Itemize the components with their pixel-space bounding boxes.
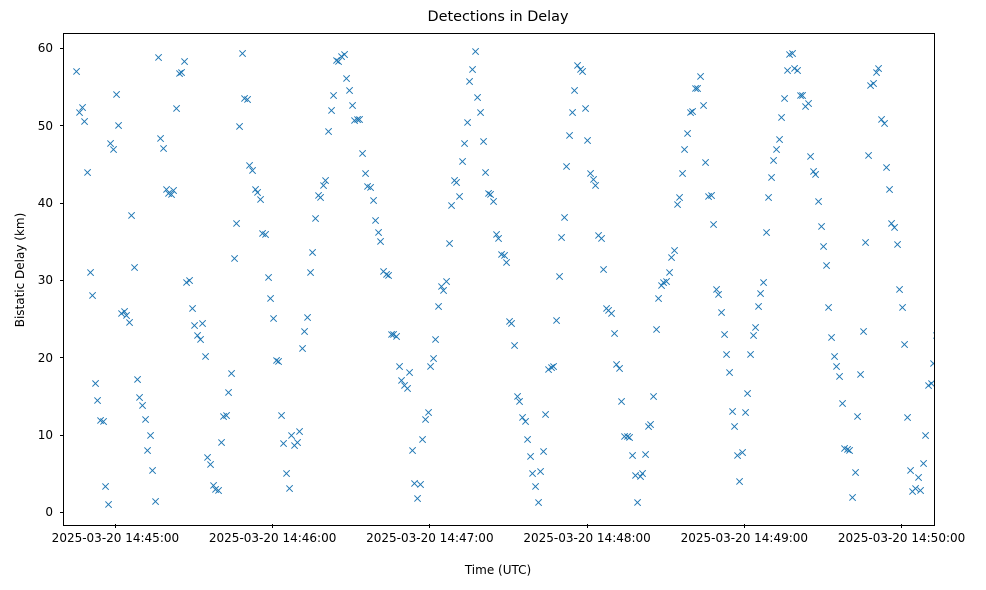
scatter-marker — [476, 108, 485, 117]
scatter-marker — [259, 229, 268, 238]
scatter-marker — [927, 379, 934, 388]
scatter-marker — [854, 412, 863, 421]
scatter-marker — [154, 53, 163, 62]
scatter-marker — [282, 469, 291, 478]
scatter-marker — [652, 325, 661, 334]
scatter-marker — [497, 250, 506, 259]
scatter-marker — [874, 64, 883, 73]
scatter-marker — [371, 216, 380, 225]
scatter-marker — [232, 219, 241, 228]
scatter-marker — [523, 435, 532, 444]
scatter-marker — [667, 253, 676, 262]
scatter-marker — [741, 408, 750, 417]
scatter-marker — [442, 277, 451, 286]
scatter-marker — [298, 344, 307, 353]
scatter-marker — [825, 303, 834, 312]
scatter-marker — [400, 381, 409, 390]
scatter-marker — [696, 72, 705, 81]
scatter-marker — [429, 354, 438, 363]
scatter-marker — [421, 415, 430, 424]
scatter-marker — [678, 169, 687, 178]
scatter-marker — [306, 268, 315, 277]
scatter-marker — [709, 220, 718, 229]
scatter-marker — [479, 137, 488, 146]
scatter-marker — [303, 313, 312, 322]
scatter-marker — [665, 268, 674, 277]
scatter-marker — [550, 362, 559, 371]
scatter-marker — [345, 86, 354, 95]
scatter-marker — [211, 485, 220, 494]
scatter-marker — [332, 56, 341, 65]
scatter-marker — [222, 411, 231, 420]
scatter-marker — [356, 115, 365, 124]
scatter-marker — [620, 432, 629, 441]
scatter-marker — [151, 497, 160, 506]
scatter-marker — [295, 427, 304, 436]
scatter-marker — [515, 397, 524, 406]
y-tick-mark — [60, 512, 64, 513]
scatter-marker — [791, 64, 800, 73]
scatter-marker — [164, 189, 173, 198]
scatter-marker — [408, 446, 417, 455]
y-tick-label: 60 — [9, 42, 53, 54]
scatter-marker — [552, 316, 561, 325]
scatter-marker — [437, 282, 446, 291]
scatter-marker — [301, 327, 310, 336]
scatter-marker — [885, 185, 894, 194]
x-tick-mark — [587, 524, 588, 528]
scatter-marker — [322, 176, 331, 185]
scatter-marker — [623, 432, 632, 441]
scatter-marker — [314, 191, 323, 200]
plot-area — [63, 33, 935, 526]
scatter-marker — [335, 57, 344, 66]
scatter-marker — [555, 272, 564, 281]
y-tick-label: 10 — [9, 429, 53, 441]
x-tick-mark — [272, 524, 273, 528]
scatter-marker — [277, 411, 286, 420]
scatter-marker — [835, 372, 844, 381]
scatter-marker — [872, 68, 881, 77]
scatter-marker — [754, 302, 763, 311]
scatter-marker — [932, 331, 934, 340]
scatter-marker — [450, 176, 459, 185]
scatter-marker — [526, 452, 535, 461]
scatter-marker — [340, 50, 349, 59]
scatter-marker — [880, 119, 889, 128]
scatter-marker — [83, 168, 92, 177]
scatter-marker — [570, 86, 579, 95]
scatter-marker — [909, 487, 918, 496]
scatter-marker — [384, 271, 393, 280]
scatter-marker — [175, 69, 184, 78]
scatter-marker — [856, 370, 865, 379]
scatter-marker — [544, 365, 553, 374]
scatter-marker — [819, 242, 828, 251]
scatter-marker — [722, 350, 731, 359]
scatter-marker — [293, 438, 302, 447]
scatter-marker — [350, 116, 359, 125]
scatter-marker — [565, 131, 574, 140]
scatter-marker — [264, 273, 273, 282]
scatter-marker — [91, 379, 100, 388]
scatter-marker — [911, 484, 920, 493]
scatter-marker — [639, 469, 648, 478]
scatter-marker — [641, 450, 650, 459]
scatter-marker — [793, 66, 802, 75]
scatter-marker — [660, 278, 669, 287]
scatter-marker — [455, 192, 464, 201]
scatter-marker — [861, 238, 870, 247]
scatter-marker — [728, 407, 737, 416]
scatter-marker — [801, 102, 810, 111]
scatter-marker — [206, 460, 215, 469]
scatter-marker — [489, 197, 498, 206]
scatter-marker — [704, 192, 713, 201]
y-tick-mark — [60, 357, 64, 358]
scatter-marker — [172, 104, 181, 113]
scatter-marker — [730, 422, 739, 431]
scatter-marker — [833, 362, 842, 371]
scatter-marker — [398, 376, 407, 385]
scatter-marker — [691, 84, 700, 93]
scatter-marker — [812, 170, 821, 179]
scatter-marker — [560, 213, 569, 222]
scatter-marker — [898, 303, 907, 312]
scatter-marker — [780, 94, 789, 103]
scatter-marker — [597, 234, 606, 243]
scatter-marker — [578, 67, 587, 76]
scatter-marker — [673, 200, 682, 209]
scatter-marker — [382, 270, 391, 279]
scatter-marker — [827, 333, 836, 342]
scatter-marker — [500, 251, 509, 260]
scatter-marker — [272, 356, 281, 365]
scatter-marker — [529, 469, 538, 478]
scatter-marker — [521, 417, 530, 426]
scatter-marker — [353, 115, 362, 124]
scatter-marker — [191, 321, 200, 330]
scatter-marker — [573, 61, 582, 70]
scatter-marker — [219, 412, 228, 421]
scatter-marker — [193, 331, 202, 340]
scatter-marker — [930, 359, 935, 368]
scatter-marker — [170, 186, 179, 195]
scatter-marker — [403, 384, 412, 393]
scatter-marker — [274, 357, 283, 366]
scatter-marker — [809, 167, 818, 176]
x-tick-label: 2025-03-20 14:49:00 — [681, 532, 808, 544]
scatter-marker — [471, 47, 480, 56]
scatter-marker — [115, 121, 124, 130]
x-tick-label: 2025-03-20 14:46:00 — [209, 532, 336, 544]
scatter-marker — [439, 286, 448, 295]
scatter-marker — [510, 341, 519, 350]
scatter-marker — [610, 329, 619, 338]
scatter-marker — [851, 468, 860, 477]
scatter-marker — [109, 145, 118, 154]
scatter-marker — [251, 185, 260, 194]
scatter-marker — [746, 350, 755, 359]
x-tick-label: 2025-03-20 14:50:00 — [838, 532, 965, 544]
scatter-marker — [715, 290, 724, 299]
scatter-marker — [107, 139, 116, 148]
scatter-marker — [75, 108, 84, 117]
scatter-marker — [285, 484, 294, 493]
y-tick-mark — [60, 280, 64, 281]
scatter-marker — [243, 95, 252, 104]
scatter-marker — [204, 453, 213, 462]
scatter-marker — [877, 115, 886, 124]
scatter-marker — [495, 234, 504, 243]
scatter-marker — [589, 175, 598, 184]
scatter-marker — [681, 145, 690, 154]
scatter-marker — [104, 500, 113, 509]
scatter-marker — [466, 77, 475, 86]
scatter-marker — [518, 413, 527, 422]
scatter-marker — [311, 214, 320, 223]
scatter-marker — [605, 306, 614, 315]
scatter-marker — [484, 189, 493, 198]
scatter-marker — [615, 364, 624, 373]
scatter-marker — [183, 278, 192, 287]
scatter-marker — [738, 448, 747, 457]
scatter-marker — [209, 481, 218, 490]
scatter-marker — [751, 323, 760, 332]
chart-title: Detections in Delay — [63, 8, 933, 26]
scatter-marker — [445, 239, 454, 248]
scatter-marker — [240, 94, 249, 103]
scatter-marker — [290, 441, 299, 450]
scatter-marker — [434, 302, 443, 311]
scatter-marker — [214, 486, 223, 495]
scatter-marker — [840, 444, 849, 453]
scatter-marker — [99, 417, 108, 426]
scatter-marker — [536, 467, 545, 476]
scatter-marker — [101, 482, 110, 491]
scatter-marker — [201, 352, 210, 361]
scatter-marker — [830, 352, 839, 361]
scatter-marker — [762, 228, 771, 237]
x-tick-mark — [429, 524, 430, 528]
scatter-marker — [120, 307, 129, 316]
scatter-marker — [149, 466, 158, 475]
scatter-marker — [196, 335, 205, 344]
scatter-marker — [631, 471, 640, 480]
scatter-marker — [88, 291, 97, 300]
scatter-marker — [135, 393, 144, 402]
y-tick-mark — [60, 203, 64, 204]
scatter-marker — [122, 311, 131, 320]
scatter-marker — [447, 201, 456, 210]
scatter-marker — [133, 375, 142, 384]
scatter-points-layer — [64, 34, 934, 525]
scatter-marker — [508, 319, 517, 328]
x-tick-label: 2025-03-20 14:47:00 — [366, 532, 493, 544]
scatter-marker — [591, 181, 600, 190]
scatter-marker — [712, 285, 721, 294]
scatter-marker — [568, 108, 577, 117]
scatter-marker — [764, 193, 773, 202]
scatter-marker — [159, 144, 168, 153]
scatter-marker — [707, 191, 716, 200]
scatter-marker — [125, 318, 134, 327]
scatter-marker — [432, 335, 441, 344]
scatter-marker — [736, 477, 745, 486]
scatter-marker — [563, 162, 572, 171]
scatter-marker — [594, 231, 603, 240]
scatter-marker — [117, 309, 126, 318]
scatter-marker — [460, 139, 469, 148]
scatter-marker — [783, 66, 792, 75]
scatter-marker — [804, 99, 813, 108]
scatter-marker — [267, 294, 276, 303]
scatter-marker — [416, 480, 425, 489]
scatter-marker — [167, 190, 176, 199]
scatter-marker — [867, 81, 876, 90]
scatter-marker — [539, 447, 548, 456]
scatter-marker — [327, 106, 336, 115]
scatter-marker — [156, 134, 165, 143]
scatter-marker — [775, 135, 784, 144]
scatter-marker — [675, 193, 684, 202]
scatter-marker — [699, 101, 708, 110]
scatter-marker — [725, 368, 734, 377]
scatter-marker — [848, 493, 857, 502]
scatter-marker — [542, 410, 551, 419]
scatter-marker — [557, 233, 566, 242]
scatter-marker — [86, 268, 95, 277]
scatter-marker — [162, 185, 171, 194]
scatter-marker — [806, 152, 815, 161]
scatter-marker — [180, 57, 189, 66]
scatter-marker — [308, 248, 317, 257]
scatter-marker — [369, 196, 378, 205]
scatter-marker — [778, 113, 787, 122]
scatter-marker — [73, 67, 82, 76]
scatter-marker — [798, 91, 807, 100]
scatter-marker — [733, 451, 742, 460]
scatter-marker — [901, 340, 910, 349]
scatter-marker — [128, 211, 137, 220]
y-tick-mark — [60, 48, 64, 49]
scatter-marker — [138, 401, 147, 410]
scatter-marker — [505, 317, 514, 326]
scatter-marker — [895, 285, 904, 294]
scatter-marker — [767, 173, 776, 182]
scatter-marker — [474, 93, 483, 102]
scatter-marker — [361, 169, 370, 178]
scatter-marker — [688, 107, 697, 116]
scatter-marker — [869, 79, 878, 88]
scatter-marker — [463, 118, 472, 127]
x-tick-mark — [901, 524, 902, 528]
scatter-marker — [683, 129, 692, 138]
scatter-marker — [343, 74, 352, 83]
x-tick-label: 2025-03-20 14:48:00 — [523, 532, 650, 544]
scatter-marker — [358, 149, 367, 158]
scatter-marker — [922, 431, 931, 440]
x-tick-mark — [744, 524, 745, 528]
scatter-marker — [287, 431, 296, 440]
scatter-marker — [893, 240, 902, 249]
scatter-marker — [424, 408, 433, 417]
scatter-marker — [814, 197, 823, 206]
scatter-marker — [248, 166, 257, 175]
scatter-marker — [788, 49, 797, 58]
scatter-marker — [584, 136, 593, 145]
scatter-marker — [644, 422, 653, 431]
scatter-marker — [919, 459, 928, 468]
scatter-marker — [227, 369, 236, 378]
scatter-marker — [796, 91, 805, 100]
scatter-marker — [235, 122, 244, 131]
scatter-marker — [130, 263, 139, 272]
scatter-marker — [405, 368, 414, 377]
x-tick-label: 2025-03-20 14:45:00 — [52, 532, 179, 544]
scatter-marker — [177, 68, 186, 77]
scatter-marker — [112, 90, 121, 99]
scatter-marker — [143, 446, 152, 455]
scatter-marker — [280, 439, 289, 448]
scatter-marker — [316, 193, 325, 202]
scatter-marker — [586, 169, 595, 178]
scatter-marker — [80, 117, 89, 126]
scatter-marker — [602, 304, 611, 313]
scatter-marker — [419, 435, 428, 444]
scatter-marker — [743, 389, 752, 398]
scatter-marker — [395, 362, 404, 371]
scatter-marker — [492, 230, 501, 239]
scatter-marker — [702, 158, 711, 167]
scatter-marker — [188, 304, 197, 313]
scatter-marker — [646, 420, 655, 429]
scatter-marker — [864, 151, 873, 160]
scatter-marker — [329, 91, 338, 100]
scatter-marker — [246, 161, 255, 170]
scatter-marker — [717, 308, 726, 317]
scatter-marker — [348, 101, 357, 110]
scatter-marker — [628, 451, 637, 460]
scatter-marker — [843, 445, 852, 454]
scatter-marker — [531, 482, 540, 491]
scatter-marker — [78, 103, 87, 112]
scatter-marker — [217, 438, 226, 447]
scatter-marker — [146, 431, 155, 440]
scatter-marker — [599, 265, 608, 274]
scatter-marker — [198, 319, 207, 328]
scatter-marker — [468, 65, 477, 74]
scatter-marker — [363, 182, 372, 191]
scatter-marker — [749, 331, 758, 340]
scatter-marker — [141, 415, 150, 424]
matplotlib-figure: Detections in Delay 0102030405060 2025-0… — [0, 0, 986, 590]
scatter-marker — [253, 188, 262, 197]
y-tick-label: 50 — [9, 120, 53, 132]
scatter-marker — [426, 362, 435, 371]
scatter-marker — [379, 267, 388, 276]
scatter-marker — [534, 498, 543, 507]
scatter-marker — [772, 145, 781, 154]
scatter-marker — [366, 183, 375, 192]
scatter-marker — [916, 486, 925, 495]
scatter-marker — [261, 230, 270, 239]
scatter-marker — [581, 104, 590, 113]
scatter-marker — [411, 479, 420, 488]
scatter-marker — [607, 309, 616, 318]
y-axis-label: Bistatic Delay (km) — [13, 170, 27, 370]
scatter-marker — [576, 65, 585, 74]
